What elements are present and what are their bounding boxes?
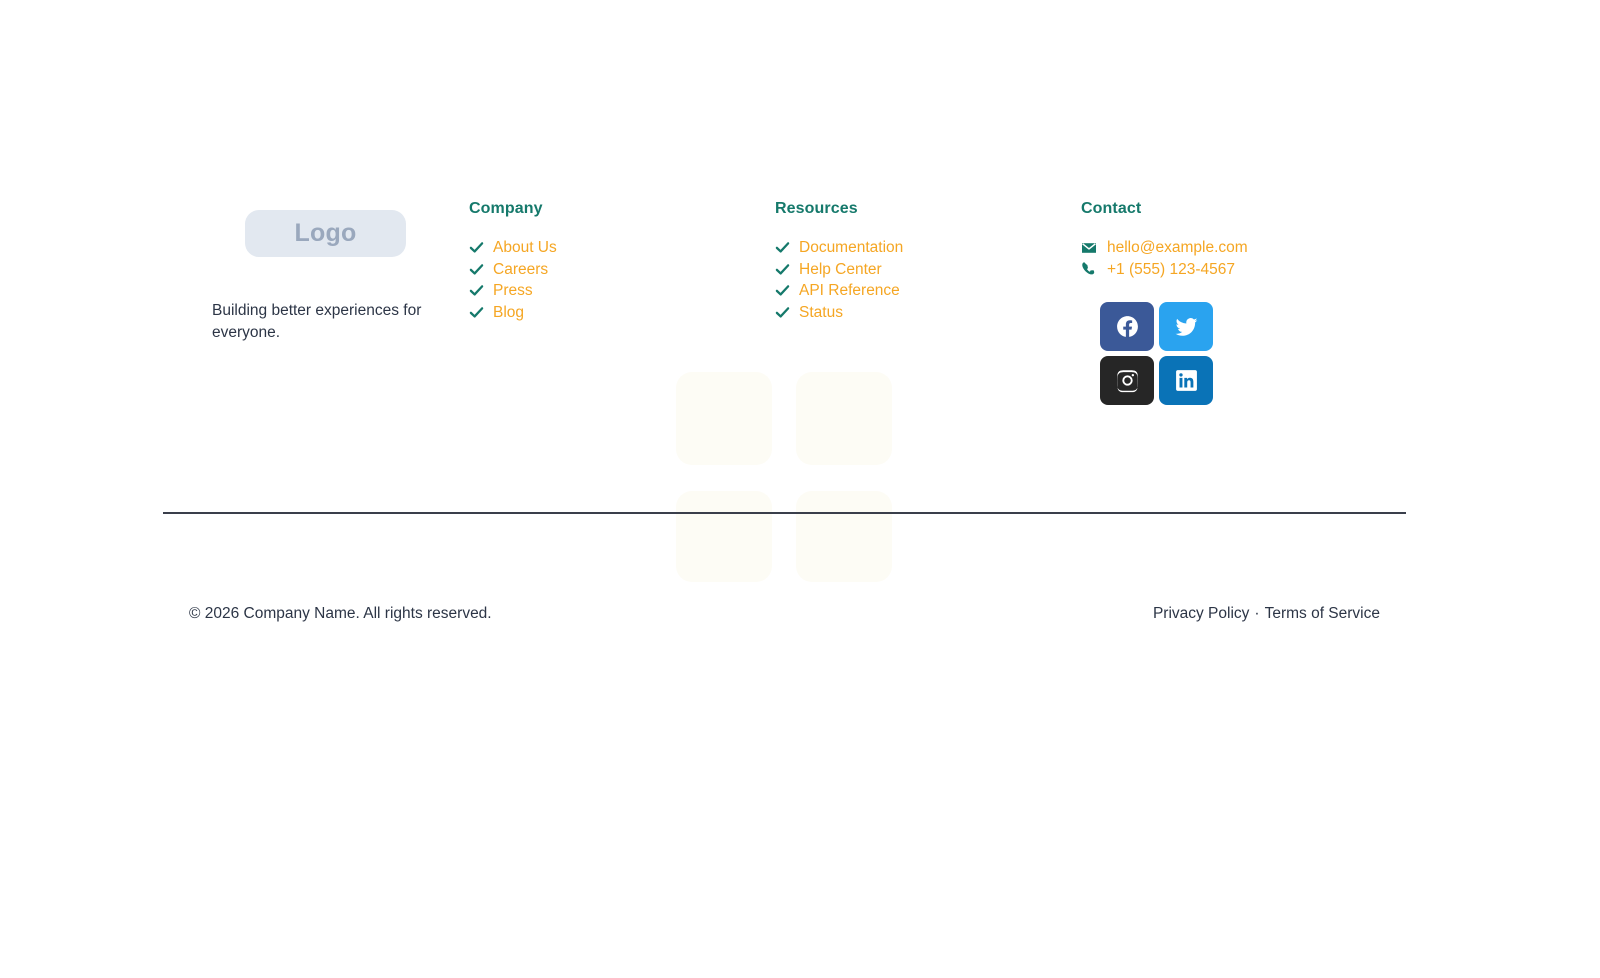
phone-icon <box>1081 261 1097 277</box>
check-icon <box>775 305 790 320</box>
footer-link-label: Careers <box>493 262 548 278</box>
contact-email[interactable]: hello@example.com <box>1081 237 1381 259</box>
footer-resources-column: Resources Documentation Help Center <box>775 200 1081 323</box>
footer-link-api-reference[interactable]: API Reference <box>775 280 1081 302</box>
logo-placeholder[interactable]: Logo <box>245 210 406 257</box>
footer-bottom-bar: © 2026 Company Name. All rights reserved… <box>163 605 1406 623</box>
contact-heading: Contact <box>1081 200 1381 218</box>
resources-heading: Resources <box>775 200 1081 218</box>
check-icon <box>469 305 484 320</box>
check-icon <box>775 240 790 255</box>
social-link-instagram[interactable] <box>1100 356 1154 405</box>
check-icon <box>469 283 484 298</box>
footer-contact-column: Contact hello@example.com +1 (555) 123-4… <box>1081 200 1381 405</box>
footer-link-label: Documentation <box>799 240 903 256</box>
footer-link-label: API Reference <box>799 283 900 299</box>
footer-link-label: Blog <box>493 305 524 321</box>
footer-link-help-center[interactable]: Help Center <box>775 259 1081 281</box>
check-icon <box>469 262 484 277</box>
envelope-icon <box>1081 240 1097 256</box>
footer-link-press[interactable]: Press <box>469 280 775 302</box>
footer-link-status[interactable]: Status <box>775 302 1081 324</box>
check-icon <box>469 240 484 255</box>
footer-divider <box>163 512 1406 514</box>
twitter-icon <box>1174 314 1199 339</box>
footer-link-label: Status <box>799 305 843 321</box>
check-icon <box>775 283 790 298</box>
footer-company-column: Company About Us Careers <box>469 200 775 323</box>
page-root: Logo Building better experiences for eve… <box>0 0 1600 978</box>
footer-link-label: Help Center <box>799 262 882 278</box>
resources-link-list: Documentation Help Center API Reference <box>775 237 1081 323</box>
footer-link-label: Press <box>493 283 533 299</box>
social-link-linkedin[interactable] <box>1159 356 1213 405</box>
contact-phone-text: +1 (555) 123-4567 <box>1107 262 1235 278</box>
contact-email-text: hello@example.com <box>1107 240 1248 256</box>
footer-link-label: About Us <box>493 240 557 256</box>
footer-link-careers[interactable]: Careers <box>469 259 775 281</box>
legal-separator: · <box>1254 605 1259 623</box>
social-link-twitter[interactable] <box>1159 302 1213 351</box>
privacy-policy-link[interactable]: Privacy Policy <box>1153 605 1249 623</box>
copyright-text: © 2026 Company Name. All rights reserved… <box>189 605 492 623</box>
social-link-facebook[interactable] <box>1100 302 1154 351</box>
terms-of-service-link[interactable]: Terms of Service <box>1265 605 1380 623</box>
check-icon <box>775 262 790 277</box>
footer-link-blog[interactable]: Blog <box>469 302 775 324</box>
footer-link-documentation[interactable]: Documentation <box>775 237 1081 259</box>
social-links <box>1100 302 1268 405</box>
brand-tagline: Building better experiences for everyone… <box>212 300 422 344</box>
instagram-icon <box>1115 368 1140 393</box>
linkedin-icon <box>1174 368 1199 393</box>
footer-columns: Logo Building better experiences for eve… <box>163 200 1406 405</box>
contact-phone[interactable]: +1 (555) 123-4567 <box>1081 259 1381 281</box>
company-link-list: About Us Careers Press <box>469 237 775 323</box>
site-footer: Logo Building better experiences for eve… <box>0 0 1600 978</box>
footer-link-about-us[interactable]: About Us <box>469 237 775 259</box>
footer-brand-column: Logo Building better experiences for eve… <box>163 200 469 344</box>
company-heading: Company <box>469 200 775 218</box>
legal-links: Privacy Policy · Terms of Service <box>1153 605 1380 623</box>
logo-label: Logo <box>295 219 357 248</box>
facebook-icon <box>1115 314 1140 339</box>
